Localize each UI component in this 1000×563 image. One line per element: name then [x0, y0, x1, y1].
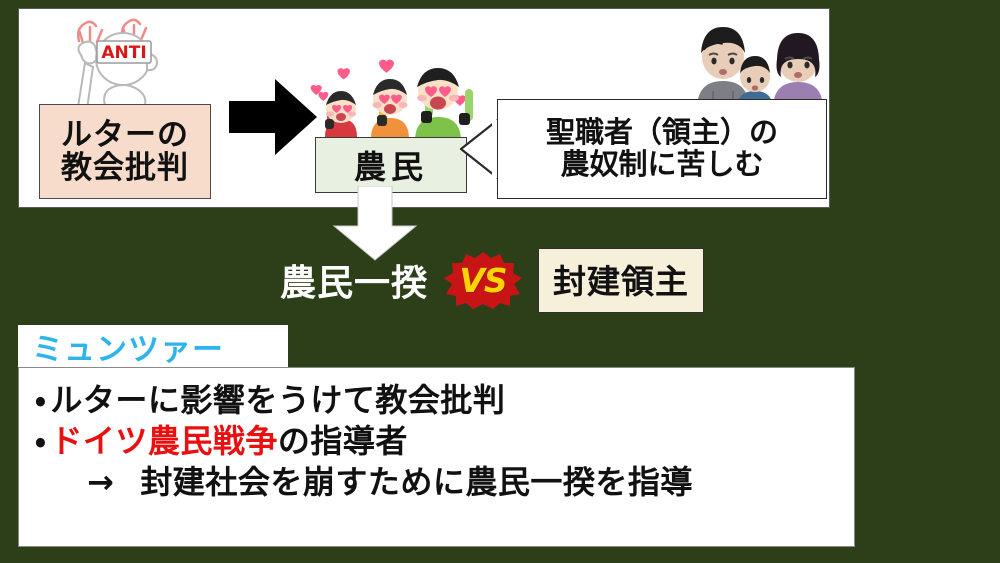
slide-root: ANTI ルターの 教会批判 [0, 0, 1000, 563]
bullet-text-1: ルターに影響をうけて教会批判 [50, 381, 505, 419]
peasant-revolt-label: 農民一揆 [280, 254, 428, 306]
list-item: ・ルターに影響をうけて教会批判 [35, 380, 854, 421]
luther-criticism-box: ルターの 教会批判 [39, 104, 211, 199]
svg-text:ANTI: ANTI [101, 43, 146, 63]
right-arrow-glyph: → [87, 463, 114, 501]
luther-box-line2: 教会批判 [61, 152, 189, 185]
feudal-lord-box: 封建領主 [538, 248, 704, 313]
serf-callout-line1: 聖職者（領主）の [546, 117, 778, 149]
serf-callout-line2: 農奴制に苦しむ [560, 149, 763, 181]
worried-family-icon [691, 13, 831, 113]
conclusion-text: 封建社会を崩すために農民一揆を指導 [140, 463, 693, 501]
munzer-heading-label: ミュンツァー [32, 324, 224, 369]
feudal-lord-label: 封建領主 [553, 255, 689, 303]
bullet-marker: ・ [35, 381, 46, 419]
munzer-heading-tab: ミュンツァー [18, 325, 288, 367]
white-down-arrow-icon [330, 186, 420, 262]
farmer-label-box: 農民 [315, 137, 467, 193]
conclusion-line: →封建社会を崩すために農民一揆を指導 [35, 462, 854, 503]
farmer-label: 農民 [354, 142, 428, 188]
munzer-detail-panel: ・ルターに影響をうけて教会批判 ・ドイツ農民戦争の指導者 →封建社会を崩すために… [18, 367, 855, 547]
german-peasants-war-term: ドイツ農民戦争 [50, 422, 278, 460]
bullet-marker: ・ [35, 422, 46, 460]
bullet-text-2-tail: の指導者 [278, 422, 408, 460]
vs-label: VS [459, 261, 506, 300]
serfdom-callout-box: 聖職者（領主）の 農奴制に苦しむ [497, 99, 827, 199]
callout-pointer-icon [459, 117, 499, 181]
list-item: ・ドイツ農民戦争の指導者 [35, 421, 854, 462]
conflict-row: 農民一揆 VS 封建領主 [280, 252, 704, 308]
top-content-panel: ANTI ルターの 教会批判 [18, 8, 830, 208]
vs-badge: VS [444, 251, 522, 309]
luther-box-line1: ルターの [61, 119, 189, 152]
